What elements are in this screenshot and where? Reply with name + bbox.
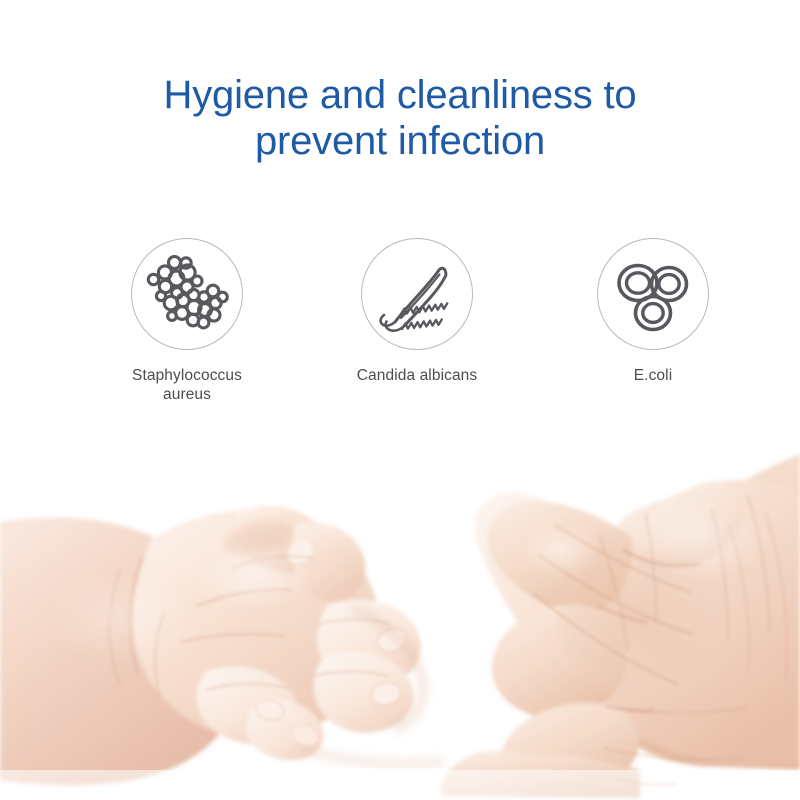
pathogen-circle-frame (361, 238, 473, 350)
pathogen-circle-frame (131, 238, 243, 350)
page-title-line-2: prevent infection (0, 118, 800, 164)
page-title: Hygiene and cleanliness to prevent infec… (0, 72, 800, 164)
candida-hypha-icon (371, 248, 463, 340)
pathogen-icon-row: Staphylococcus aureus (0, 238, 800, 418)
page-title-line-1: Hygiene and cleanliness to (0, 72, 800, 118)
pathogen-item-staphylococcus-aureus: Staphylococcus aureus (72, 238, 302, 404)
poster-canvas: Hygiene and cleanliness to prevent infec… (0, 0, 800, 800)
baby-hand-holding-adult-hand-photo (0, 418, 800, 800)
pathogen-item-ecoli: E.coli (538, 238, 768, 385)
pathogen-circle-frame (597, 238, 709, 350)
pathogen-label: Staphylococcus aureus (72, 366, 302, 404)
pathogen-item-candida-albicans: Candida albicans (302, 238, 532, 385)
pathogen-label: Candida albicans (302, 366, 532, 385)
ecoli-triple-ring-icon (611, 252, 695, 336)
staphylococcus-cluster-icon (141, 248, 233, 340)
pathogen-label: E.coli (538, 366, 768, 385)
